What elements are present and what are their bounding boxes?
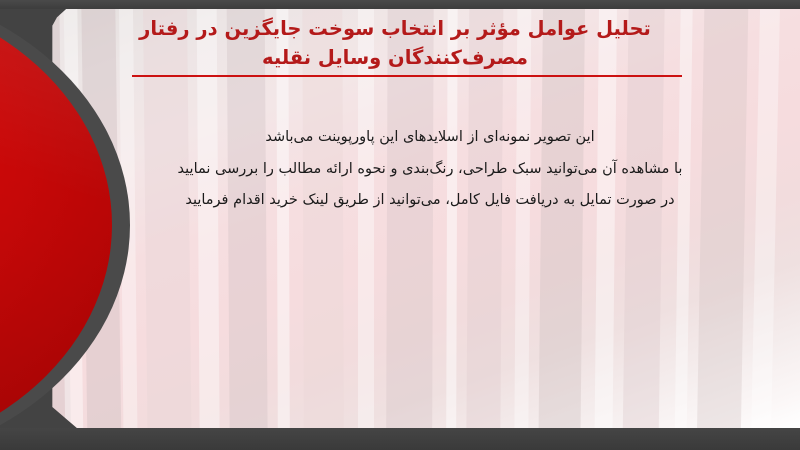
- body-line-3: در صورت تمایل به دریافت فایل کامل، می‌تو…: [120, 185, 740, 217]
- slide-title: تحلیل عوامل مؤثر بر انتخاب سوخت جایگزین …: [100, 14, 690, 73]
- slide-top-border: [0, 0, 800, 9]
- body-line-1: این تصویر نمونه‌ای از اسلایدهای این پاور…: [120, 122, 740, 154]
- body-line-2: با مشاهده آن می‌توانید سبک طراحی، رنگ‌بن…: [120, 154, 740, 186]
- slide-bottom-border: [0, 428, 800, 450]
- presentation-slide: تحلیل عوامل مؤثر بر انتخاب سوخت جایگزین …: [0, 0, 800, 450]
- slide-body-text: این تصویر نمونه‌ای از اسلایدهای این پاور…: [120, 122, 740, 217]
- title-underline-rule: [132, 75, 682, 77]
